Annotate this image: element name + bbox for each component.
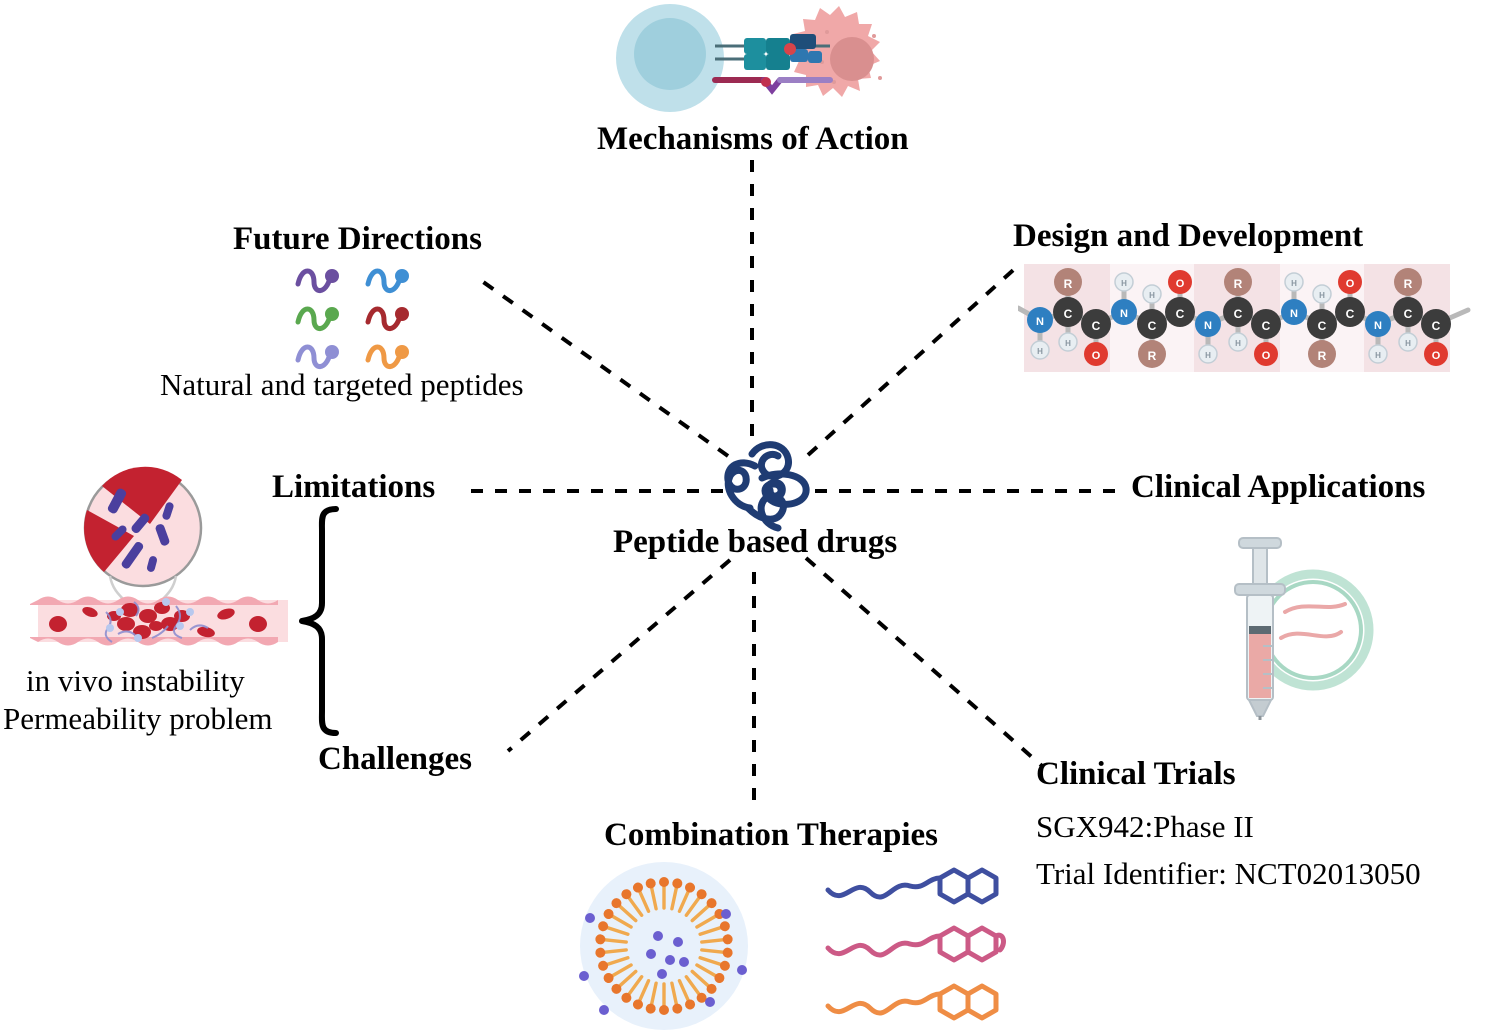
clinical-applications-title: Clinical Applications: [1131, 470, 1425, 505]
svg-text:R: R: [1318, 349, 1327, 363]
curly-brace-icon: [296, 505, 352, 737]
svg-text:R: R: [1064, 277, 1073, 291]
svg-text:R: R: [1404, 277, 1413, 291]
svg-text:N: N: [1036, 316, 1044, 328]
svg-text:C: C: [1064, 307, 1073, 321]
liposome-icon-wrap: [566, 862, 766, 1030]
spoke-challenges: [508, 560, 730, 751]
svg-text:H: H: [1319, 291, 1325, 300]
limitations-icon-wrap: [30, 466, 295, 646]
spoke-clinical-trials: [806, 558, 1042, 766]
svg-text:R: R: [1234, 277, 1243, 291]
svg-text:H: H: [1205, 351, 1211, 360]
svg-text:H: H: [1405, 339, 1411, 348]
svg-text:O: O: [1346, 278, 1355, 290]
svg-text:C: C: [1234, 307, 1243, 321]
svg-text:C: C: [1404, 307, 1413, 321]
future-caption: Natural and targeted peptides: [160, 366, 524, 404]
clinical-trials-title: Clinical Trials: [1036, 757, 1236, 792]
blood-vessel-permeability-icon: [30, 466, 295, 646]
svg-text:C: C: [1092, 319, 1101, 333]
limitations-line-1: in vivo instability: [26, 662, 245, 700]
svg-text:C: C: [1346, 307, 1355, 321]
clinical-trials-line-1: SGX942:Phase II: [1036, 808, 1254, 846]
limitations-line-2: Permeability problem: [3, 700, 272, 738]
svg-text:O: O: [1092, 350, 1101, 362]
svg-text:C: C: [1318, 319, 1327, 333]
svg-text:H: H: [1375, 351, 1381, 360]
design-title: Design and Development: [1013, 219, 1363, 254]
center-label: Peptide based drugs: [613, 525, 897, 560]
challenges-title: Challenges: [318, 742, 472, 777]
diagram-canvas: Peptide based drugs: [0, 0, 1501, 1030]
peptide-chains-icon-wrap: [820, 862, 1010, 1030]
svg-text:C: C: [1176, 307, 1185, 321]
svg-text:H: H: [1065, 339, 1071, 348]
svg-text:C: C: [1262, 319, 1271, 333]
grouping-brace: [296, 505, 352, 737]
svg-text:O: O: [1432, 350, 1441, 362]
clinical-applications-icon-wrap: [1205, 520, 1395, 720]
peptide-chains-icon: [820, 862, 1010, 1030]
svg-text:N: N: [1120, 308, 1128, 320]
future-title: Future Directions: [233, 222, 482, 257]
svg-text:C: C: [1432, 319, 1441, 333]
liposome-vesicle-icon: [566, 862, 766, 1030]
peptide-squiggle-grid-icon: [292, 260, 432, 370]
svg-text:H: H: [1037, 347, 1043, 356]
spoke-design: [808, 264, 1020, 455]
combination-title: Combination Therapies: [604, 818, 938, 853]
limitations-title: Limitations: [272, 470, 435, 505]
design-icon-wrap: N H C R H C O N H C H R C O N H C R H: [1018, 262, 1473, 374]
svg-text:H: H: [1291, 279, 1297, 288]
mechanisms-icon-wrap: [612, 2, 892, 120]
svg-text:H: H: [1149, 291, 1155, 300]
future-icon-wrap: [292, 260, 432, 370]
svg-text:H: H: [1235, 339, 1241, 348]
svg-text:C: C: [1148, 319, 1157, 333]
svg-text:N: N: [1290, 308, 1298, 320]
svg-text:O: O: [1262, 350, 1271, 362]
peptide-backbone-molecule-icon: N H C R H C O N H C H R C O N H C R H: [1018, 262, 1473, 374]
svg-text:N: N: [1204, 320, 1212, 332]
cell-receptor-interaction-icon: [612, 2, 892, 120]
clinical-trials-line-2: Trial Identifier: NCT02013050: [1036, 855, 1421, 893]
syringe-icon: [1205, 520, 1395, 720]
svg-text:O: O: [1176, 278, 1185, 290]
mechanisms-title: Mechanisms of Action: [597, 122, 909, 157]
svg-text:N: N: [1374, 320, 1382, 332]
svg-text:H: H: [1121, 279, 1127, 288]
svg-text:R: R: [1148, 349, 1157, 363]
